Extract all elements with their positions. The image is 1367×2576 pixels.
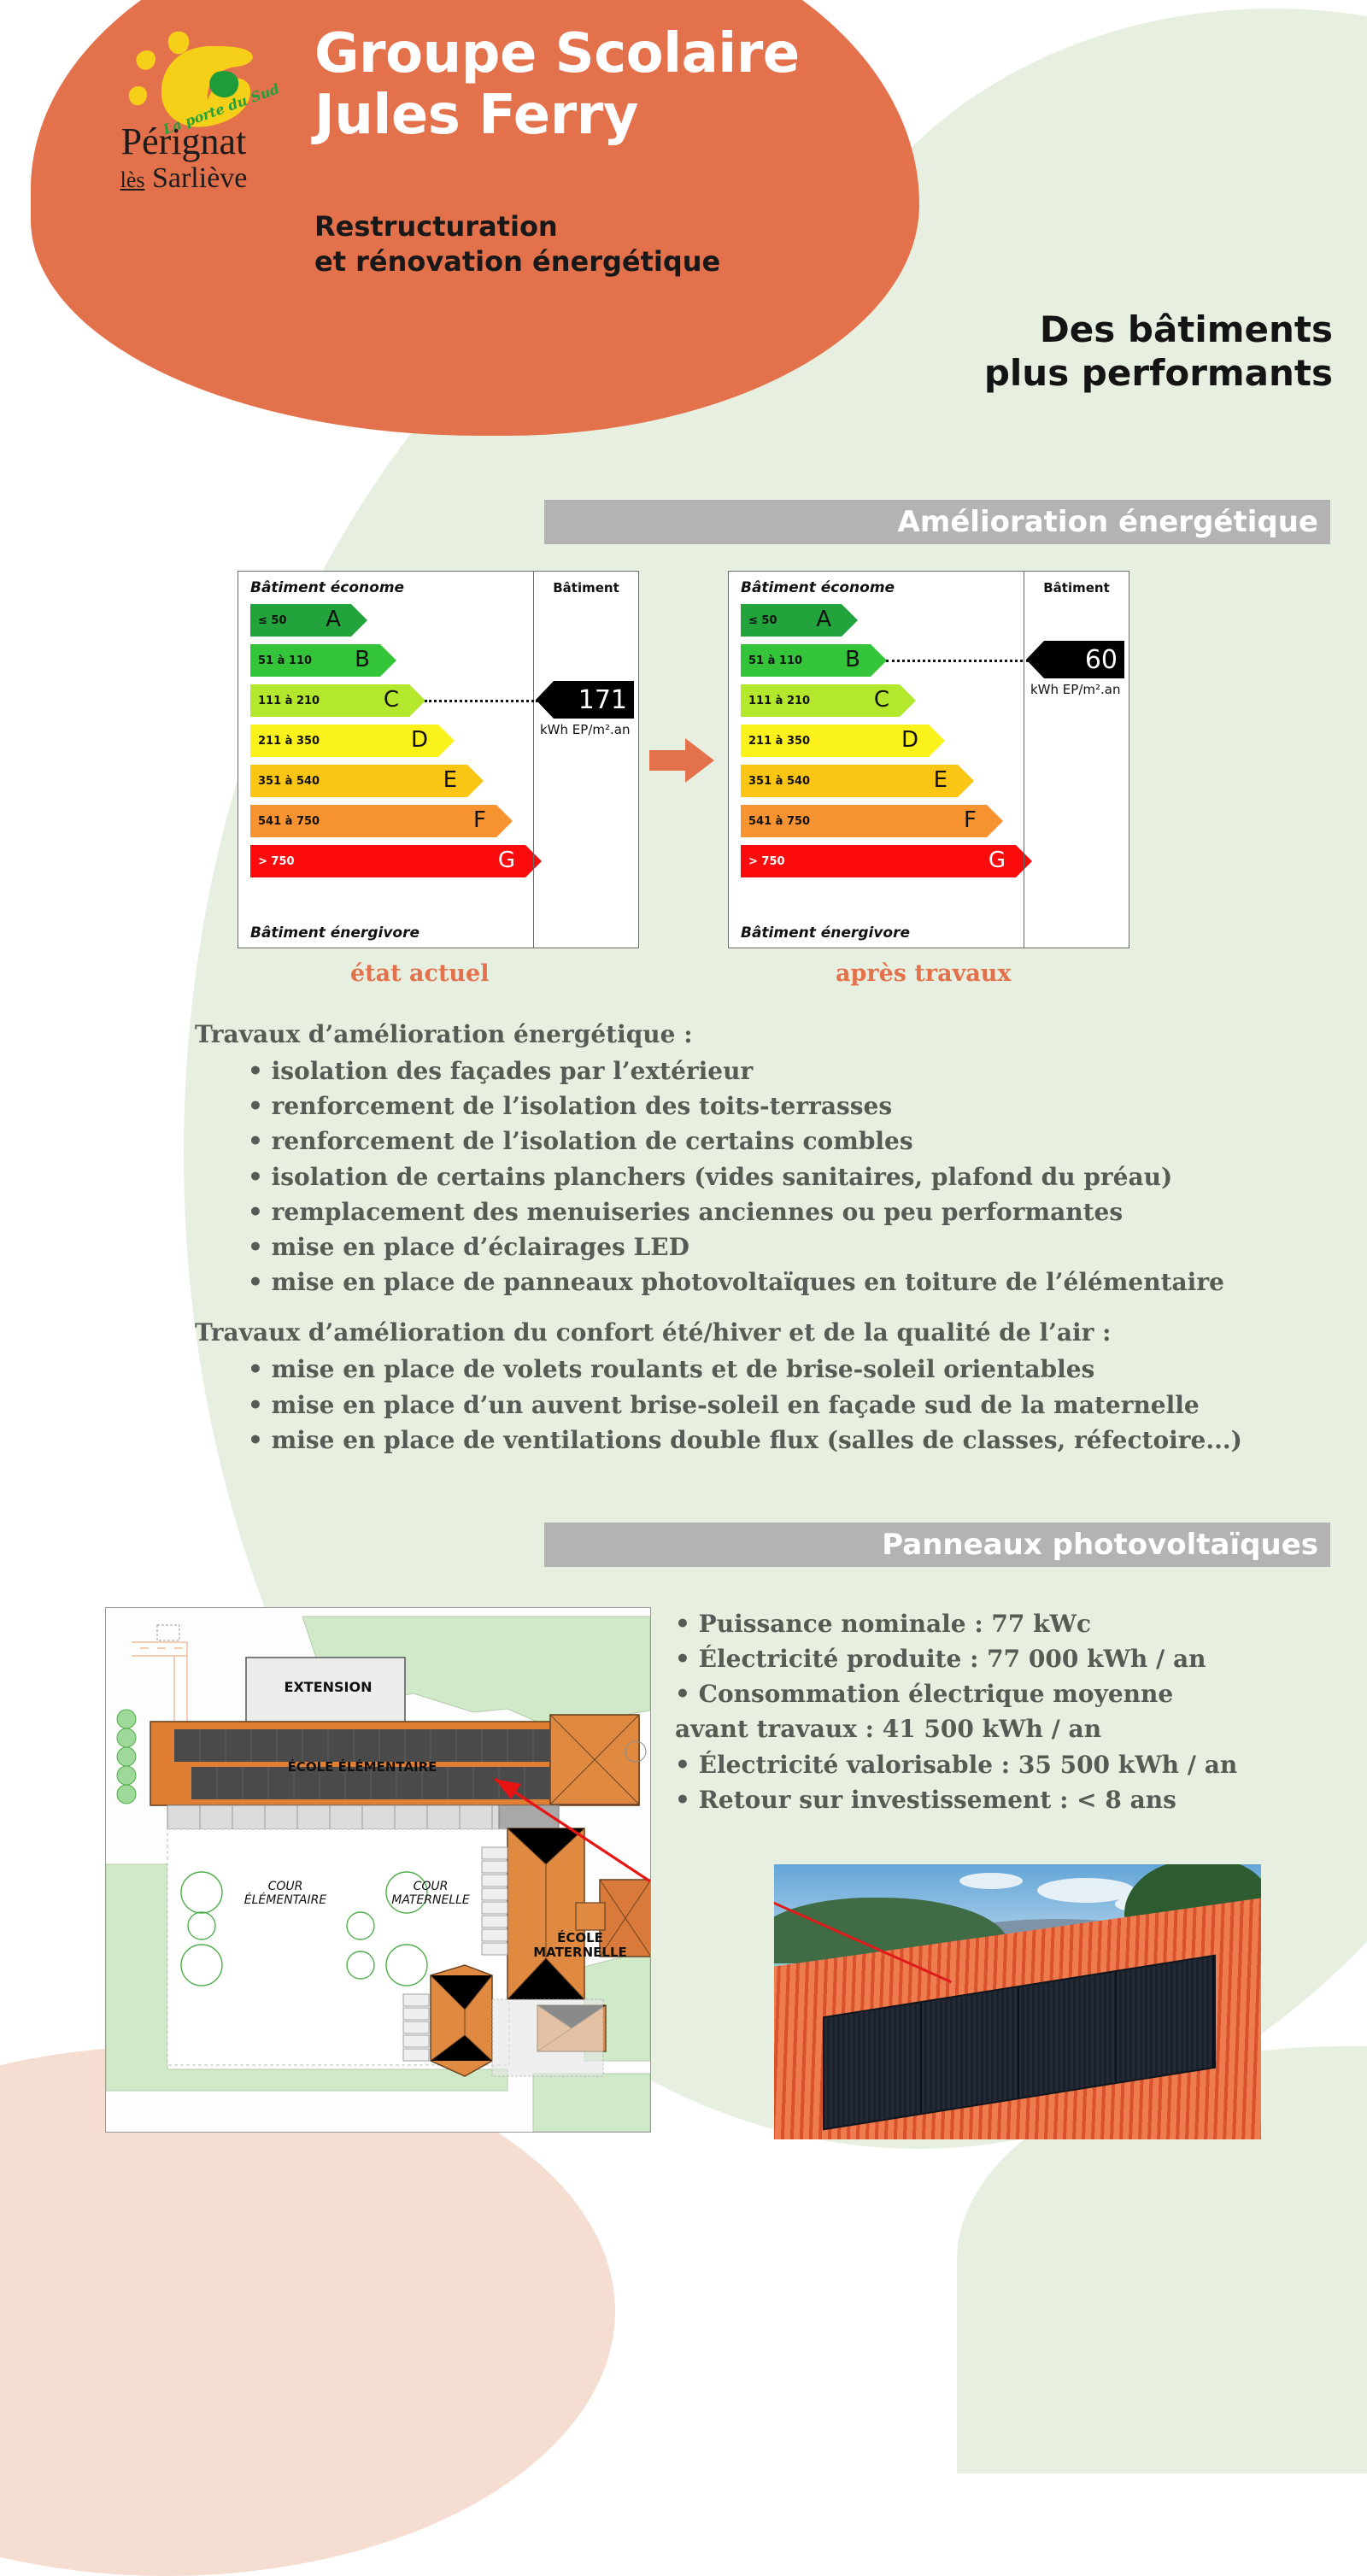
dpe-range-label: 211 à 350 [741,735,810,748]
dpe-bar-tip-icon [380,644,396,677]
dpe-bar-e: 351 à 540E [250,765,467,797]
page-subtitle-line2: et rénovation énergétique [314,244,720,279]
dpe-caption-bottom-before: Bâtiment énergivore [250,924,419,942]
works-energy-heading: Travaux d’amélioration énergétique : [195,1017,1323,1052]
dpe-class-letter: A [326,607,341,632]
dpe-class-letter: B [845,647,860,672]
dpe-bar-tip-icon [351,604,367,637]
works-comfort-list: mise en place de volets roulants et de b… [195,1352,1323,1457]
dpe-bar-a: ≤ 50A [741,604,842,637]
dpe-bar-tip-icon [900,684,916,717]
list-item: mise en place d’un auvent brise-soleil e… [248,1388,1323,1423]
works-energy-list: isolation des façades par l’extérieurren… [195,1053,1323,1300]
dpe-bar-tip-icon [871,644,887,677]
dpe-bar-a: ≤ 50A [250,604,351,637]
page-title: Groupe Scolaire Jules Ferry [314,24,800,146]
dpe-class-row-e: 351 à 540E [741,765,1016,797]
dpe-range-label: 211 à 350 [250,735,320,748]
headline-line1: Des bâtiments [984,308,1333,351]
dpe-column-header-after: Bâtiment [1024,572,1129,596]
dpe-bar-tip-icon [409,684,425,717]
dpe-class-letter: F [964,807,977,833]
page-title-line2: Jules Ferry [314,85,800,147]
dpe-class-letter: E [934,767,948,793]
list-item: isolation de certains planchers (vides s… [248,1159,1323,1194]
dpe-value-flag-before: 171 [554,681,634,719]
logo-les-word: lès [120,167,145,192]
dpe-range-label: 541 à 750 [250,815,320,828]
dpe-range-label: ≤ 50 [250,614,287,627]
dpe-bar-g: > 750G [250,845,525,877]
dpe-range-label: 351 à 540 [250,775,320,788]
dpe-class-letter: C [874,687,889,713]
dpe-bar-tip-icon [958,765,974,797]
site-plan-label-extension: EXTENSION [281,1680,375,1695]
dpe-bar-f: 541 à 750F [250,805,496,837]
photo-solar-panels-on-roof [774,1864,1261,2139]
dpe-class-letter: D [901,727,918,753]
dpe-class-row-f: 541 à 750F [250,805,525,837]
dpe-bar-e: 351 à 540E [741,765,958,797]
list-item: mise en place d’éclairages LED [248,1229,1323,1265]
photovoltaic-fact: Électricité valorisable : 35 500 kWh / a… [675,1747,1290,1782]
dpe-bar-d: 211 à 350D [741,725,929,757]
page-subtitle: Restructuration et rénovation énergétiqu… [314,209,720,279]
photovoltaic-fact: Retour sur investissement : < 8 ans [675,1782,1290,1817]
dpe-range-label: > 750 [250,855,295,868]
dpe-unit-label: kWh EP/m².an [540,722,630,737]
dpe-class-letter: D [411,727,428,753]
dpe-column-header-before: Bâtiment [534,572,638,596]
dpe-class-letter: G [498,848,515,873]
dpe-bar-tip-icon [987,805,1003,837]
logo-perignat-les-sarlieve: La porte du Sud Pérignat lès Sarliève [81,27,286,207]
list-item: remplacement des menuiseries anciennes o… [248,1194,1323,1229]
dpe-range-label: > 750 [741,855,785,868]
photovoltaic-facts-list: Puissance nominale : 77 kWcÉlectricité p… [675,1606,1290,1817]
dpe-value-flag-after: 60 [1044,641,1124,678]
dpe-class-row-c: 111 à 210C [741,684,1016,717]
dpe-class-letter: A [816,607,831,632]
dpe-caption-top-after: Bâtiment économe [741,579,1024,596]
dpe-value-column-after: Bâtiment [1024,572,1129,948]
works-section: Travaux d’amélioration énergétique : iso… [195,1017,1323,1473]
dpe-range-label: 51 à 110 [250,654,312,667]
site-plan-label-cour-elementaire: COUR ÉLÉMENTAIRE [217,1880,354,1907]
site-plan: EXTENSION ÉCOLE ÉLÉMENTAIRE COUR ÉLÉMENT… [105,1607,651,2133]
dpe-bar-c: 111 à 210C [741,684,900,717]
list-item: mise en place de ventilations double flu… [248,1423,1323,1458]
dpe-class-letter: B [355,647,370,672]
site-plan-drawing [106,1608,650,2132]
page-title-line1: Groupe Scolaire [314,24,800,85]
list-item: renforcement de l’isolation de certains … [248,1124,1323,1159]
dpe-bar-tip-icon [467,765,484,797]
dpe-class-row-e: 351 à 540E [250,765,525,797]
list-item: mise en place de panneaux photovoltaïque… [248,1265,1323,1300]
dpe-class-letter: G [989,848,1006,873]
dpe-scale-before: Bâtiment économe ≤ 50A51 à 110B111 à 210… [238,572,533,948]
dpe-bar-c: 111 à 210C [250,684,409,717]
photovoltaic-fact: Électricité produite : 77 000 kWh / an [675,1641,1290,1676]
photovoltaic-fact: avant travaux : 41 500 kWh / an [675,1711,1290,1746]
dpe-caption-bottom-after: Bâtiment énergivore [741,924,910,942]
photovoltaic-facts: Puissance nominale : 77 kWcÉlectricité p… [675,1606,1290,1817]
dpe-class-row-a: ≤ 50A [741,604,1016,637]
dpe-range-label: 111 à 210 [250,695,320,707]
dpe-bar-f: 541 à 750F [741,805,987,837]
dpe-class-letter: E [443,767,457,793]
dpe-bars-after: ≤ 50A51 à 110B111 à 210C211 à 350D351 à … [741,604,1016,885]
photovoltaic-fact: Puissance nominale : 77 kWc [675,1606,1290,1641]
page-subtitle-line1: Restructuration [314,209,720,244]
dpe-class-row-b: 51 à 110B [250,644,525,677]
dpe-connector-line [425,700,538,702]
headline-line2: plus performants [984,351,1333,395]
photovoltaic-fact: Consommation électrique moyenne [675,1676,1290,1711]
photo-cloud [959,1873,1023,1889]
dpe-scale-after: Bâtiment économe ≤ 50A51 à 110B111 à 210… [729,572,1024,948]
dpe-unit-label: kWh EP/m².an [1030,682,1120,697]
site-plan-label-cour-maternelle: COUR MATERNELLE [362,1880,499,1907]
dpe-range-label: 541 à 750 [741,815,810,828]
dpe-bars-before: ≤ 50A51 à 110B111 à 210C211 à 350D351 à … [250,604,525,885]
dpe-class-row-g: > 750G [250,845,525,877]
dpe-range-label: 111 à 210 [741,695,810,707]
logo-town-name: Pérignat [81,123,286,161]
dpe-bar-g: > 750G [741,845,1016,877]
dpe-bar-d: 211 à 350D [250,725,438,757]
dpe-bar-b: 51 à 110B [250,644,380,677]
photo-panel [824,2003,922,2128]
dpe-flag-arrow-icon [1026,641,1044,678]
dpe-bar-b: 51 à 110B [741,644,871,677]
site-plan-label-ecole-elementaire: ÉCOLE ÉLÉMENTAIRE [260,1760,465,1775]
dpe-class-letter: C [384,687,399,713]
logo-sarlieve-word: Sarliève [152,162,247,194]
dpe-value-column-before: Bâtiment [533,572,638,948]
dpe-chart-before: Bâtiment économe ≤ 50A51 à 110B111 à 210… [238,571,639,948]
list-item: isolation des façades par l’extérieur [248,1053,1323,1088]
dpe-bar-tip-icon [842,604,858,637]
dpe-range-label: 51 à 110 [741,654,802,667]
list-item: renforcement de l’isolation des toits-te… [248,1088,1323,1124]
improvement-arrow-icon [648,736,716,789]
photo-panel [922,1987,1019,2113]
dpe-caption-before: état actuel [350,960,490,987]
logo-village-name: lès Sarliève [81,164,286,193]
list-item: mise en place de volets roulants et de b… [248,1352,1323,1387]
dpe-range-label: 351 à 540 [741,775,810,788]
dpe-class-row-g: > 750G [741,845,1016,877]
dpe-bar-tip-icon [438,725,455,757]
dpe-bar-tip-icon [929,725,945,757]
works-comfort-heading: Travaux d’amélioration du confort été/hi… [195,1315,1323,1350]
photo-panel [1117,1957,1214,2082]
section-banner-photovoltaic: Panneaux photovoltaïques [544,1523,1330,1567]
dpe-bar-tip-icon [496,805,513,837]
dpe-caption-top-before: Bâtiment économe [250,579,533,596]
dpe-class-row-d: 211 à 350D [741,725,1016,757]
dpe-chart-after: Bâtiment économe ≤ 50A51 à 110B111 à 210… [728,571,1129,948]
dpe-caption-after: après travaux [836,960,1011,987]
dpe-class-letter: F [473,807,486,833]
photo-panel [1019,1972,1117,2098]
site-plan-label-ecole-maternelle: ÉCOLE MATERNELLE [516,1931,644,1961]
dpe-value: 171 [578,685,627,715]
dpe-value: 60 [1085,645,1118,675]
dpe-class-row-a: ≤ 50A [250,604,525,637]
headline: Des bâtiments plus performants [984,308,1333,395]
dpe-connector-line [886,660,1029,662]
section-banner-energy: Amélioration énergétique [544,500,1330,544]
dpe-class-row-f: 541 à 750F [741,805,1016,837]
dpe-range-label: ≤ 50 [741,614,777,627]
dpe-class-row-d: 211 à 350D [250,725,525,757]
dpe-flag-arrow-icon [536,681,554,719]
